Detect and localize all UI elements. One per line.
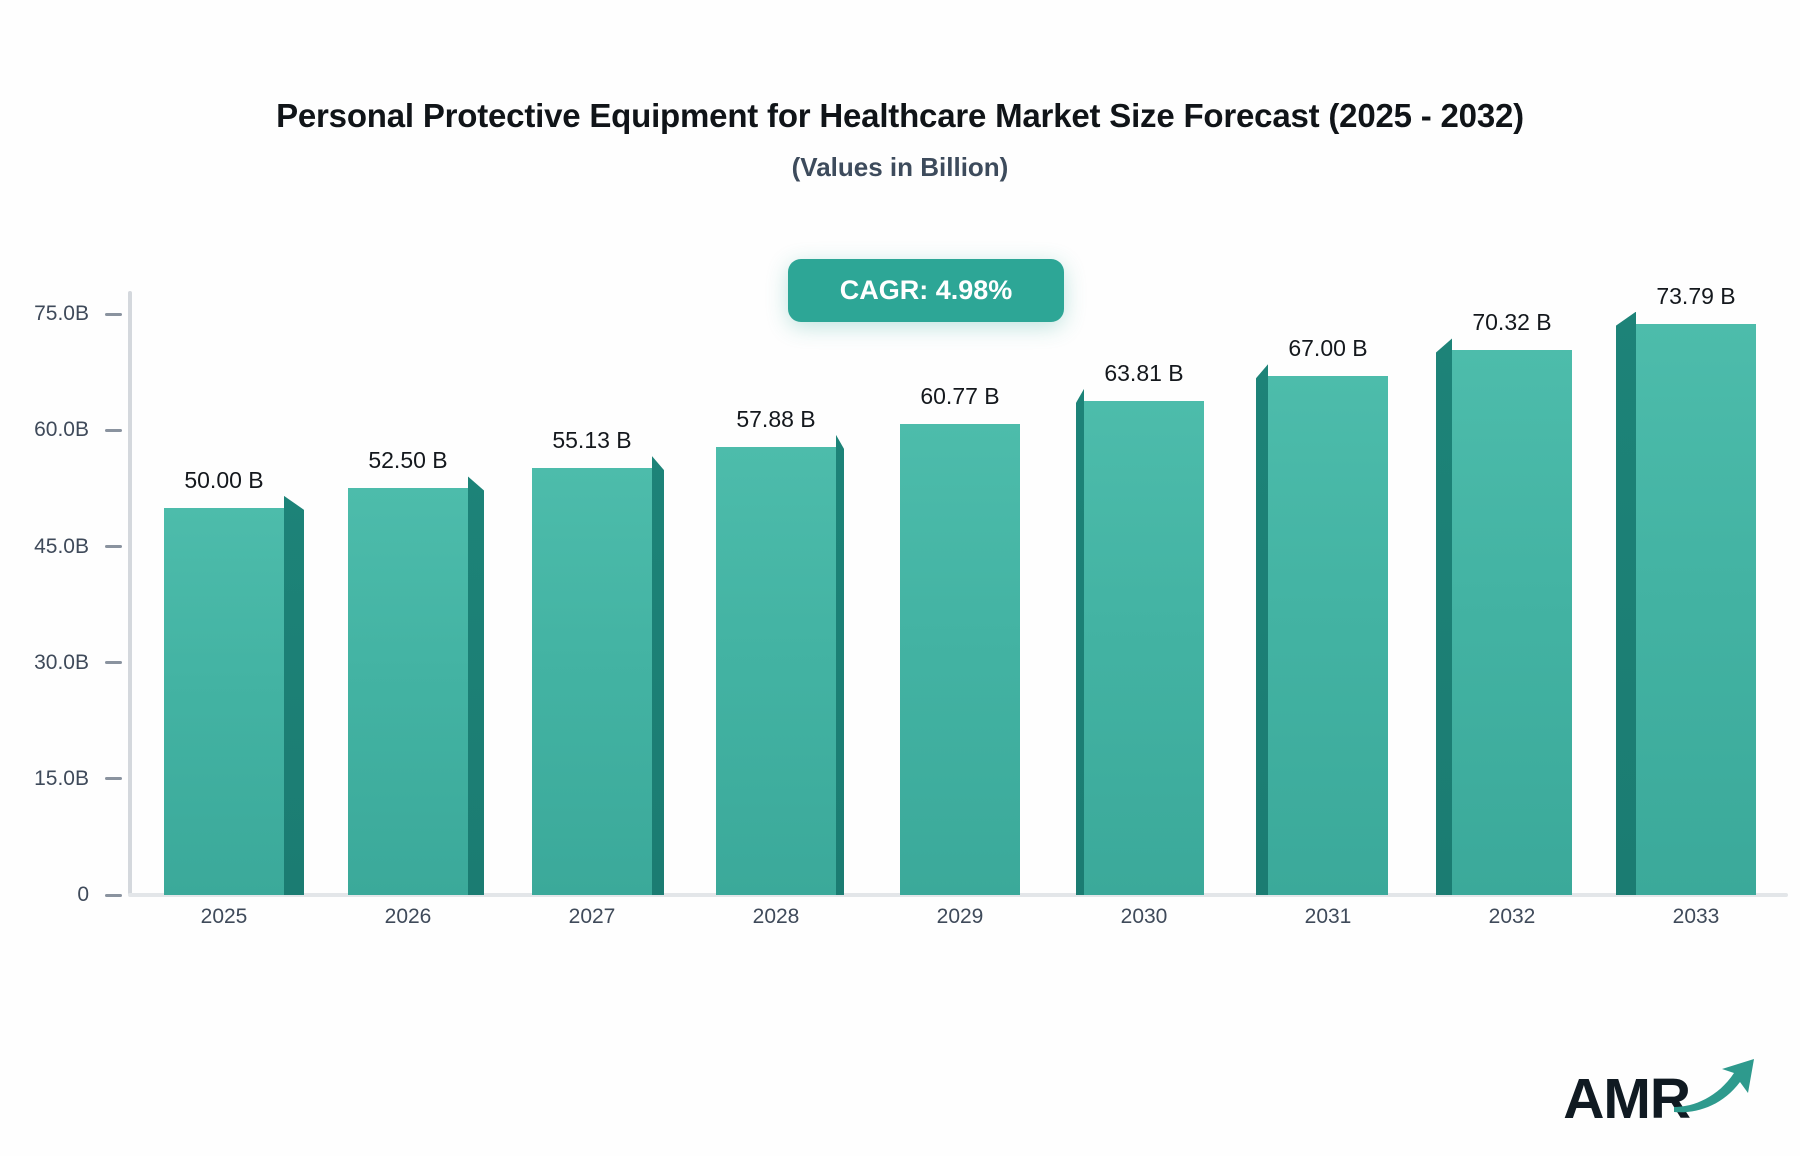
growth-arrow-icon — [1672, 1057, 1758, 1120]
bar-value-label: 60.77 B — [920, 383, 999, 410]
y-axis-tick-mark — [105, 661, 122, 664]
y-axis-tick: 0 — [0, 885, 122, 905]
bar-value-label: 55.13 B — [552, 427, 631, 454]
bar[interactable] — [1636, 324, 1756, 895]
bar[interactable] — [1084, 401, 1204, 895]
y-axis-tick-mark — [105, 545, 122, 548]
bar[interactable] — [164, 508, 284, 895]
y-axis-tick-label: 45.0B — [34, 535, 89, 559]
bar-column[interactable]: 57.88 B — [716, 250, 836, 895]
bar-front-face — [348, 488, 468, 895]
chart-subtitle: (Values in Billion) — [0, 152, 1800, 183]
y-axis-tick: 45.0B — [0, 537, 122, 557]
bar-side-face — [836, 435, 844, 895]
x-axis-tick-label: 2027 — [500, 905, 684, 929]
chart-canvas: Personal Protective Equipment for Health… — [0, 0, 1800, 1156]
bar[interactable] — [716, 447, 836, 895]
bar-side-face — [652, 456, 664, 895]
bar[interactable] — [1452, 350, 1572, 895]
bar-column[interactable]: 73.79 B — [1636, 250, 1756, 895]
y-axis-tick: 75.0B — [0, 304, 122, 324]
y-axis-tick: 60.0B — [0, 420, 122, 440]
bar-value-label: 67.00 B — [1288, 335, 1367, 362]
bar-front-face — [716, 447, 836, 895]
x-axis-tick-label: 2030 — [1052, 905, 1236, 929]
chart-title: Personal Protective Equipment for Health… — [0, 96, 1800, 136]
bar-value-label: 52.50 B — [368, 447, 447, 474]
x-axis-tick-label: 2026 — [316, 905, 500, 929]
logo-wordmark: AMR — [1563, 1071, 1690, 1128]
x-axis-labels: 202520262027202820292030203120322033 — [132, 905, 1788, 939]
y-axis-tick-mark — [105, 777, 122, 780]
bar-value-label: 57.88 B — [736, 406, 815, 433]
y-axis-tick-mark — [105, 429, 122, 432]
bar-value-label: 73.79 B — [1656, 283, 1735, 310]
bar-value-label: 50.00 B — [184, 467, 263, 494]
bar-column[interactable]: 55.13 B — [532, 250, 652, 895]
bar-column[interactable]: 50.00 B — [164, 250, 284, 895]
x-axis-tick-label: 2033 — [1604, 905, 1788, 929]
bar-front-face — [1452, 350, 1572, 895]
y-axis-tick-label: 15.0B — [34, 767, 89, 791]
bar-side-face — [1436, 338, 1452, 895]
y-axis-tick-label: 30.0B — [34, 651, 89, 675]
y-axis-tick: 30.0B — [0, 653, 122, 673]
bar-side-face — [1616, 312, 1636, 895]
x-axis-tick-label: 2031 — [1236, 905, 1420, 929]
y-axis-tick-label: 0 — [77, 883, 89, 907]
bar-column[interactable]: 60.77 B — [900, 250, 1020, 895]
plot-area: 75.0B60.0B45.0B30.0B15.0B0 50.00 B52.50 … — [0, 250, 1800, 900]
y-axis-tick-mark — [105, 894, 122, 897]
x-axis-tick-label: 2029 — [868, 905, 1052, 929]
amr-logo: AMR — [1563, 1048, 1758, 1128]
bar-front-face — [164, 508, 284, 895]
bar-side-face — [284, 496, 304, 895]
bar-column[interactable]: 63.81 B — [1084, 250, 1204, 895]
bar-value-label: 70.32 B — [1472, 309, 1551, 336]
y-axis-tick-label: 60.0B — [34, 418, 89, 442]
bar-column[interactable]: 67.00 B — [1268, 250, 1388, 895]
bar-front-face — [1268, 376, 1388, 895]
bar-front-face — [1636, 324, 1756, 895]
bar-side-face — [468, 476, 484, 895]
bar[interactable] — [1268, 376, 1388, 895]
bar-side-face — [1256, 364, 1268, 895]
x-axis-tick-label: 2032 — [1420, 905, 1604, 929]
y-axis-tick-mark — [105, 313, 122, 316]
bar-front-face — [1084, 401, 1204, 895]
bar[interactable] — [900, 424, 1020, 895]
bar-front-face — [532, 468, 652, 895]
bar-column[interactable]: 52.50 B — [348, 250, 468, 895]
x-axis-tick-label: 2025 — [132, 905, 316, 929]
y-axis-tick: 15.0B — [0, 769, 122, 789]
y-axis-tick-label: 75.0B — [34, 302, 89, 326]
bar-column[interactable]: 70.32 B — [1452, 250, 1572, 895]
bar[interactable] — [348, 488, 468, 895]
chart-header: Personal Protective Equipment for Health… — [0, 96, 1800, 183]
bar[interactable] — [532, 468, 652, 895]
x-axis-tick-label: 2028 — [684, 905, 868, 929]
bar-front-face — [900, 424, 1020, 895]
bar-side-face — [1076, 389, 1084, 895]
bar-series: 50.00 B52.50 B55.13 B57.88 B60.77 B63.81… — [132, 250, 1788, 895]
cagr-badge: CAGR: 4.98% — [788, 259, 1064, 322]
bar-value-label: 63.81 B — [1104, 360, 1183, 387]
